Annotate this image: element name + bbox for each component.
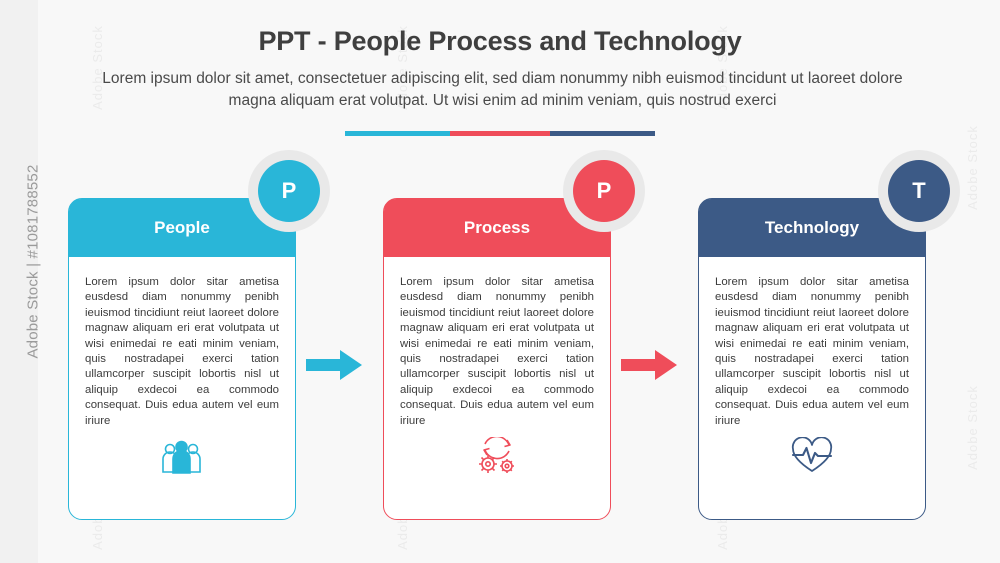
badge-technology: T [878,150,960,232]
accent-rule-segment-2 [450,131,550,136]
gears-cycle-icon [471,437,523,475]
card-technology[interactable]: Technology Lorem ipsum dolor sitar ameti… [698,198,926,520]
card-title-technology: Technology [765,218,859,238]
heartbeat-icon [790,437,834,475]
badge-letter-process: P [597,178,612,204]
accent-rule [345,131,655,136]
slide-canvas: Adobe Stock | #1081788552 Adobe Stock Ad… [0,0,1000,563]
card-icon-technology [699,437,925,475]
card-icon-people [69,439,295,475]
arrow-people-process [306,350,362,380]
page-subtitle: Lorem ipsum dolor sit amet, consectetuer… [80,68,925,112]
card-process[interactable]: Process Lorem ipsum dolor sitar ametisa … [383,198,611,520]
card-body-technology: Lorem ipsum dolor sitar ametisa eusdesd … [699,257,925,429]
card-title-people: People [154,218,210,238]
badge-letter-people: P [282,178,297,204]
badge-inner-technology: T [888,160,950,222]
accent-rule-segment-1 [345,131,450,136]
badge-letter-technology: T [912,178,925,204]
card-title-process: Process [464,218,530,238]
badge-inner-process: P [573,160,635,222]
accent-rule-segment-3 [550,131,655,136]
arrow-process-technology [621,350,677,380]
card-people[interactable]: People Lorem ipsum dolor sitar ametisa e… [68,198,296,520]
card-body-process: Lorem ipsum dolor sitar ametisa eusdesd … [384,257,610,429]
badge-inner-people: P [258,160,320,222]
people-group-icon [159,439,205,475]
badge-process: P [563,150,645,232]
page-title: PPT - People Process and Technology [0,26,1000,57]
card-icon-process [384,437,610,475]
cards-container: P People Lorem ipsum dolor sitar ametisa… [0,150,1000,550]
badge-people: P [248,150,330,232]
card-body-people: Lorem ipsum dolor sitar ametisa eusdesd … [69,257,295,429]
